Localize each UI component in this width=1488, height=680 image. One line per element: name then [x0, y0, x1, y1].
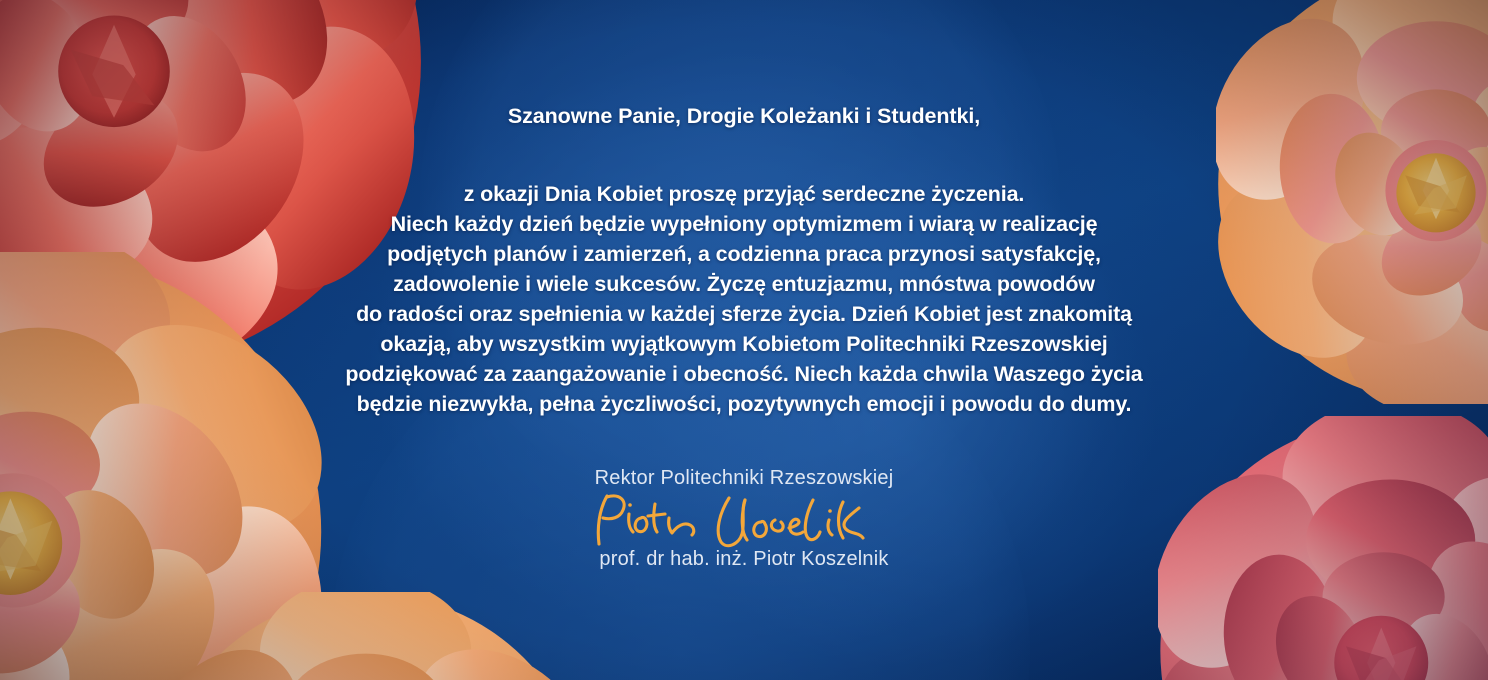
- body-line-6: okazją, aby wszystkim wyjątkowym Kobieto…: [294, 329, 1194, 359]
- greeting-card: Szanowne Panie, Drogie Koleżanki i Stude…: [0, 0, 1488, 680]
- card-content: Szanowne Panie, Drogie Koleżanki i Stude…: [0, 0, 1488, 680]
- body-line-7: podziękować za zaangażowanie i obecność.…: [294, 359, 1194, 389]
- salutation: Szanowne Panie, Drogie Koleżanki i Stude…: [508, 104, 980, 129]
- body-line-5: do radości oraz spełnienia w każdej sfer…: [294, 299, 1194, 329]
- handwritten-signature-icon: [589, 488, 899, 552]
- body-line-8: będzie niezwykła, pełna życzliwości, poz…: [294, 389, 1194, 419]
- greeting-body: z okazji Dnia Kobiet proszę przyjąć serd…: [294, 179, 1194, 419]
- body-line-1: z okazji Dnia Kobiet proszę przyjąć serd…: [294, 179, 1194, 209]
- signature-mark: [0, 488, 1488, 552]
- signature-name: prof. dr hab. inż. Piotr Koszelnik: [0, 548, 1488, 571]
- signature-role: Rektor Politechniki Rzeszowskiej: [0, 467, 1488, 490]
- body-line-3: podjętych planów i zamierzeń, a codzienn…: [294, 239, 1194, 269]
- body-line-2: Niech każdy dzień będzie wypełniony opty…: [294, 209, 1194, 239]
- signature-block: Rektor Politechniki Rzeszowskiej: [0, 467, 1488, 571]
- body-line-4: zadowolenie i wiele sukcesów. Życzę entu…: [294, 269, 1194, 299]
